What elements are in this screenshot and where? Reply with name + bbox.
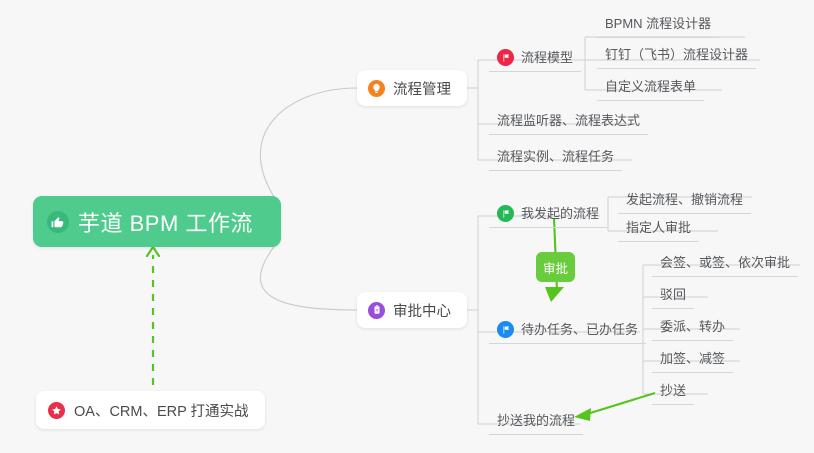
- node-process-model[interactable]: 流程模型: [489, 46, 581, 72]
- branch-approval-center[interactable]: 审批中心: [357, 292, 467, 328]
- arrow-sidecard-to-root: [147, 247, 159, 385]
- node-delegate-transfer[interactable]: 委派、转办: [652, 315, 733, 341]
- connector-root-to-approval-center: [260, 238, 357, 310]
- node-cc-to-me[interactable]: 抄送我的流程: [489, 409, 583, 435]
- lightbulb-icon: [368, 80, 385, 97]
- node-start-cancel-process[interactable]: 发起流程、撤销流程: [618, 188, 751, 214]
- node-add-remove-sign[interactable]: 加签、减签: [652, 347, 733, 373]
- arrow-cc-to-cc-mine-line: [587, 393, 655, 414]
- node-bpmn-designer[interactable]: BPMN 流程设计器: [597, 12, 719, 38]
- thumbs-up-icon: [47, 211, 69, 233]
- node-assignee-approval[interactable]: 指定人审批: [618, 216, 699, 242]
- node-label: 流程模型: [521, 49, 573, 66]
- node-countersign[interactable]: 会签、或签、依次审批: [652, 251, 798, 277]
- side-card-node[interactable]: OA、CRM、ERP 打通实战: [36, 391, 265, 429]
- star-icon: [48, 402, 65, 419]
- approval-badge[interactable]: 审批: [536, 252, 575, 282]
- node-todo-done-tasks[interactable]: 待办任务、已办任务: [489, 318, 646, 344]
- node-dingtalk-designer[interactable]: 钉钉（飞书）流程设计器: [597, 43, 756, 69]
- clipboard-icon: [368, 302, 385, 319]
- root-node[interactable]: 芋道 BPM 工作流: [33, 196, 281, 247]
- node-label: 我发起的流程: [521, 205, 599, 222]
- connector-root-to-process-management: [260, 88, 357, 207]
- flag-red-icon: [497, 49, 514, 66]
- node-cc[interactable]: 抄送: [652, 379, 694, 405]
- node-custom-form[interactable]: 自定义流程表单: [597, 75, 704, 101]
- node-listener-expression[interactable]: 流程监听器、流程表达式: [489, 109, 648, 135]
- mindmap-canvas: 芋道 BPM 工作流 OA、CRM、ERP 打通实战 流程管理 流程模型 BPM…: [0, 0, 814, 453]
- node-reject[interactable]: 驳回: [652, 283, 694, 309]
- node-instance-task[interactable]: 流程实例、流程任务: [489, 145, 622, 171]
- arrow-initiated-to-todo-head: [545, 287, 564, 302]
- root-label: 芋道 BPM 工作流: [78, 206, 253, 238]
- branch-label: 流程管理: [393, 78, 451, 99]
- flag-blue-icon: [497, 321, 514, 338]
- branch-label: 审批中心: [393, 300, 451, 321]
- side-card-label: OA、CRM、ERP 打通实战: [74, 400, 249, 421]
- node-my-initiated[interactable]: 我发起的流程: [489, 202, 607, 228]
- node-label: 待办任务、已办任务: [521, 321, 638, 338]
- branch-process-management[interactable]: 流程管理: [357, 70, 467, 106]
- flag-green-icon: [497, 205, 514, 222]
